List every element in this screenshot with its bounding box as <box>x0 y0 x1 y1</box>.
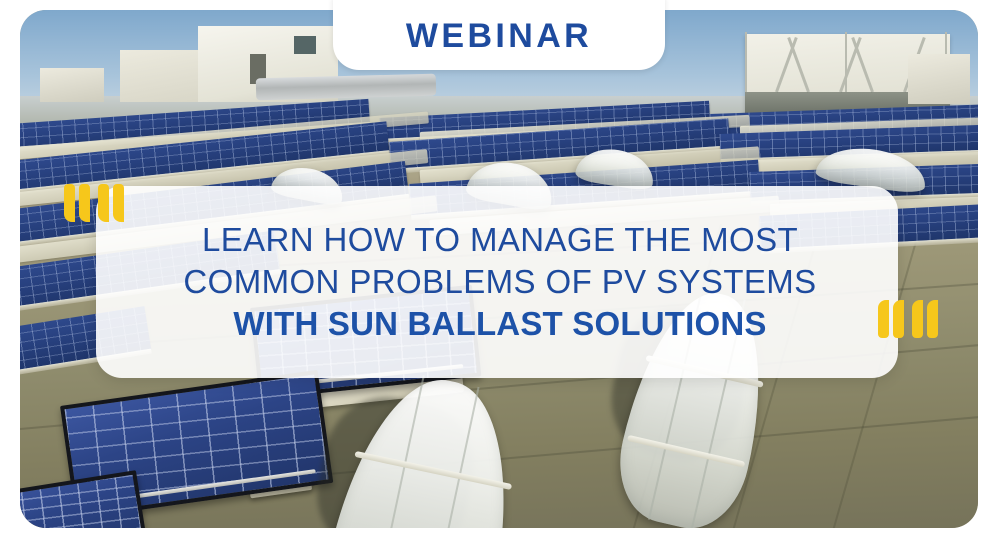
quote-open-icon <box>64 184 124 224</box>
rooftop-duct <box>256 74 437 101</box>
building-left <box>120 50 206 102</box>
building-far-right <box>908 54 970 104</box>
webinar-banner-image: WEBINAR LEARN HOW TO MANAGE THE MOST COM… <box>0 0 1000 550</box>
quote-close-icon <box>878 300 938 340</box>
building-far-left <box>40 68 104 102</box>
headline-line-1: LEARN HOW TO MANAGE THE MOST <box>0 219 1000 261</box>
headline-line-2: COMMON PROBLEMS OF PV SYSTEMS <box>0 261 1000 303</box>
headline-text-block: LEARN HOW TO MANAGE THE MOST COMMON PROB… <box>0 219 1000 345</box>
headline-line-3: WITH SUN BALLAST SOLUTIONS <box>0 303 1000 345</box>
webinar-label: WEBINAR <box>406 13 592 53</box>
webinar-label-banner: WEBINAR <box>333 0 665 70</box>
